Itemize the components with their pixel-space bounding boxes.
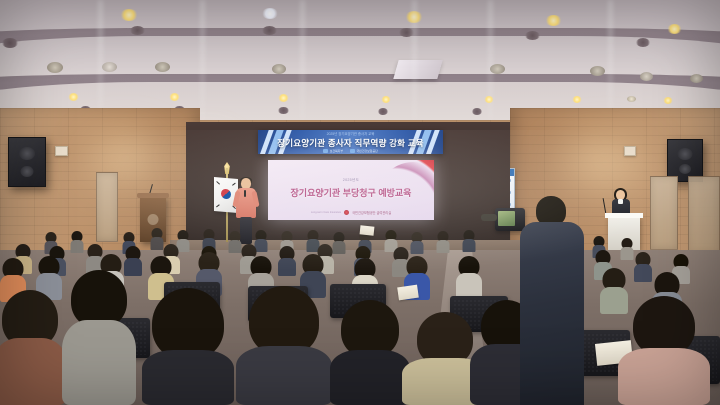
standing-photographer — [520, 196, 584, 405]
downlight-off — [2, 38, 18, 48]
downlight-off — [636, 38, 650, 47]
torso — [142, 350, 234, 405]
downlight-warm — [667, 24, 682, 34]
podium-emblem-icon — [148, 214, 159, 225]
audience-member-foreground — [330, 300, 410, 405]
torso — [462, 239, 475, 252]
auditorium-photo: 2025년 장기요양기관 종사자 교육 장기요양기관 종사자 직무역량 강화 교… — [0, 0, 720, 405]
banner-logo-label: 보건복지부 — [330, 149, 343, 153]
lectern-top — [605, 213, 643, 218]
downlight-recessed — [640, 72, 653, 81]
audience-member — [436, 231, 449, 253]
downlight-warm — [169, 93, 180, 101]
nhis-logo-icon — [350, 149, 355, 153]
speaker-cone — [678, 148, 693, 160]
camera-support-arm — [481, 214, 497, 221]
screen-title: 장기요양기관 부당청구 예방교육 — [268, 186, 434, 199]
downlight-recessed — [47, 62, 63, 73]
mc-collar — [618, 199, 623, 204]
trigram-icon — [216, 181, 220, 185]
wall-control-panel[interactable] — [55, 146, 68, 156]
audience-member-foreground — [236, 286, 332, 405]
downlight-recessed — [102, 62, 117, 72]
downlight-recessed — [590, 66, 605, 76]
audience-member — [620, 238, 633, 260]
downlight-warm — [545, 15, 562, 26]
podium-top — [137, 193, 169, 198]
camera-lcd-screen — [498, 211, 515, 226]
handheld-microphone — [244, 190, 246, 197]
event-banner: 2025년 장기요양기관 종사자 교육 장기요양기관 종사자 직무역량 강화 교… — [258, 130, 443, 154]
downlight-warm — [278, 94, 289, 102]
audience-member — [70, 231, 83, 253]
ceiling-vent-diffuser — [393, 60, 442, 79]
torso — [236, 346, 332, 405]
speaker-cone — [679, 164, 691, 174]
projection-screen: 2025년도 장기요양기관 부당청구 예방교육 Long-term Care I… — [268, 160, 434, 220]
banner-logo-ministry: 보건복지부 — [323, 149, 343, 153]
left-wall-speaker — [8, 137, 46, 187]
trigram-icon — [216, 204, 220, 207]
downlight-off — [627, 96, 636, 102]
wall-light-pool — [70, 120, 180, 196]
taeguk-icon — [221, 189, 231, 200]
downlight-off — [378, 108, 388, 115]
torso — [620, 247, 633, 260]
screen-year-label: 2025년도 — [268, 178, 434, 183]
torso — [0, 338, 66, 405]
torso — [62, 320, 136, 405]
downlight-off — [525, 31, 540, 40]
downlight-warm — [572, 96, 582, 103]
audience-member-foreground — [0, 290, 66, 405]
handout-paper[interactable] — [397, 285, 419, 301]
banner-logo-row: 보건복지부 국민건강보험공단 — [258, 149, 443, 153]
downlight-cool — [262, 8, 278, 19]
downlight-warm — [381, 96, 391, 103]
wall-control-panel[interactable] — [624, 146, 636, 156]
audience-member-foreground — [62, 270, 136, 405]
audience-member-foreground — [142, 288, 234, 405]
left-exit-door[interactable] — [96, 172, 118, 242]
nhis-emblem-icon — [344, 210, 349, 215]
audience-member — [410, 232, 423, 254]
right-exit-door[interactable] — [650, 176, 678, 250]
speaker-cone — [19, 147, 35, 160]
presenter-legs — [240, 217, 252, 244]
audience-member-foreground — [618, 296, 710, 405]
handout-paper[interactable] — [360, 225, 375, 235]
downlight-off — [278, 107, 289, 114]
torso — [70, 240, 83, 253]
screen-footer-org: 국민건강보험공단 급여관리실 — [352, 210, 391, 215]
audience-member — [456, 256, 482, 300]
banner-title: 장기요양기관 종사자 직무역량 강화 교육 — [258, 137, 443, 149]
banner-logo-nhis: 국민건강보험공단 — [350, 149, 378, 153]
audience-member — [634, 252, 652, 282]
torso — [618, 348, 710, 405]
downlight-recessed — [155, 62, 170, 72]
audience-member — [278, 246, 296, 276]
banner-logo-label: 국민건강보험공단 — [357, 149, 378, 153]
torso — [278, 258, 296, 276]
downlight-off — [130, 26, 145, 35]
screen-footer: Long-term Care Insurance 국민건강보험공단 급여관리실 — [268, 210, 434, 215]
speaker-cone — [21, 166, 34, 177]
downlight-off — [472, 108, 482, 115]
photographer-jacket — [520, 222, 584, 405]
torso — [410, 241, 423, 254]
audience-member — [462, 230, 475, 252]
right-exit-door-secondary[interactable] — [688, 176, 720, 254]
downlight-warm — [663, 97, 673, 104]
banner-subtitle: 2025년 장기요양기관 종사자 교육 — [258, 131, 443, 136]
ministry-logo-icon — [323, 149, 328, 153]
downlight-recessed — [690, 74, 703, 83]
downlight-warm — [120, 9, 138, 21]
downlight-off — [262, 26, 277, 35]
screen-footer-sub: Long-term Care Insurance — [311, 211, 341, 214]
head — [633, 296, 695, 356]
downlight-warm — [68, 93, 79, 101]
downlight-recessed — [272, 64, 286, 74]
torso — [634, 264, 652, 282]
torso — [436, 240, 449, 253]
torso — [330, 350, 410, 405]
